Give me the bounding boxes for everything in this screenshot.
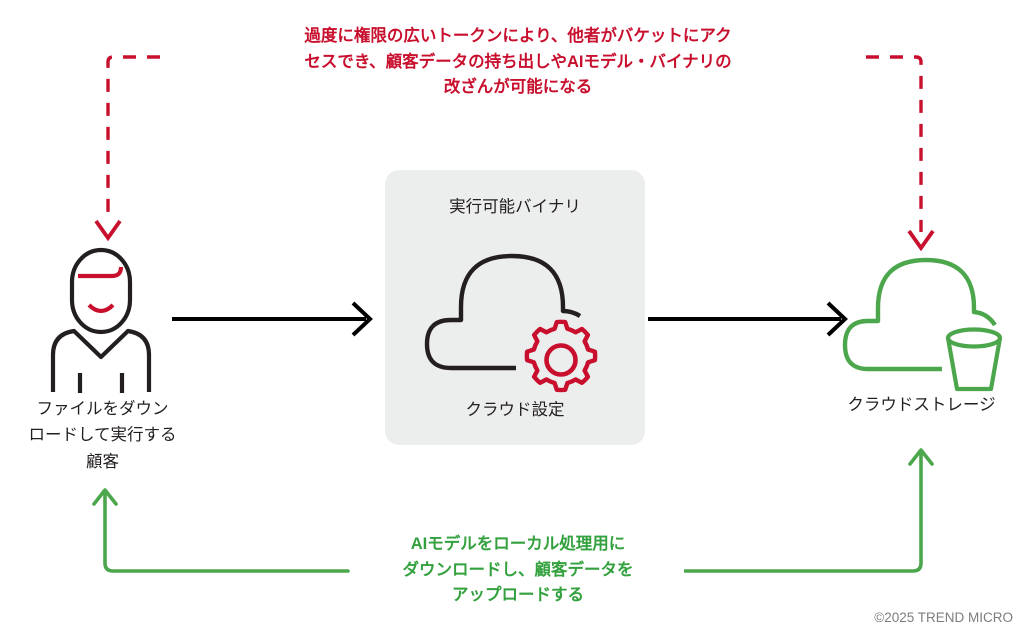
copyright-text: ©2025 TREND MICRO (793, 608, 1013, 628)
cloud-bucket-icon (845, 260, 1000, 389)
exfiltration-warning-text: 過度に権限の広いトークンにより、他者がバケットにアク セスでき、顧客データの持ち… (252, 22, 784, 103)
cloud-gear-icon (427, 256, 595, 390)
executable-binary-label: 実行可能バイナリ (385, 196, 645, 220)
customer-node-label: ファイルをダウン ロードして実行する 顧客 (0, 396, 205, 475)
arrow-cloudconfig-to-cloudstorage (648, 303, 845, 335)
red-arrowhead-left (96, 221, 120, 238)
cloud-setting-label: クラウド設定 (385, 399, 645, 423)
cloud-storage-label: クラウドストレージ (820, 392, 1023, 418)
bucket-rim (948, 330, 1000, 347)
arrow-person-to-cloudconfig (172, 303, 370, 335)
diagram-canvas: 過度に権限の広いトークンにより、他者がバケットにアク セスでき、顧客データの持ち… (0, 0, 1023, 643)
gear-icon (527, 322, 595, 390)
model-sync-note-text: AIモデルをローカル処理用に ダウンロードし、顧客データを アップロードする (352, 530, 684, 611)
person-icon (53, 250, 149, 393)
red-arrowhead-right (909, 231, 933, 248)
